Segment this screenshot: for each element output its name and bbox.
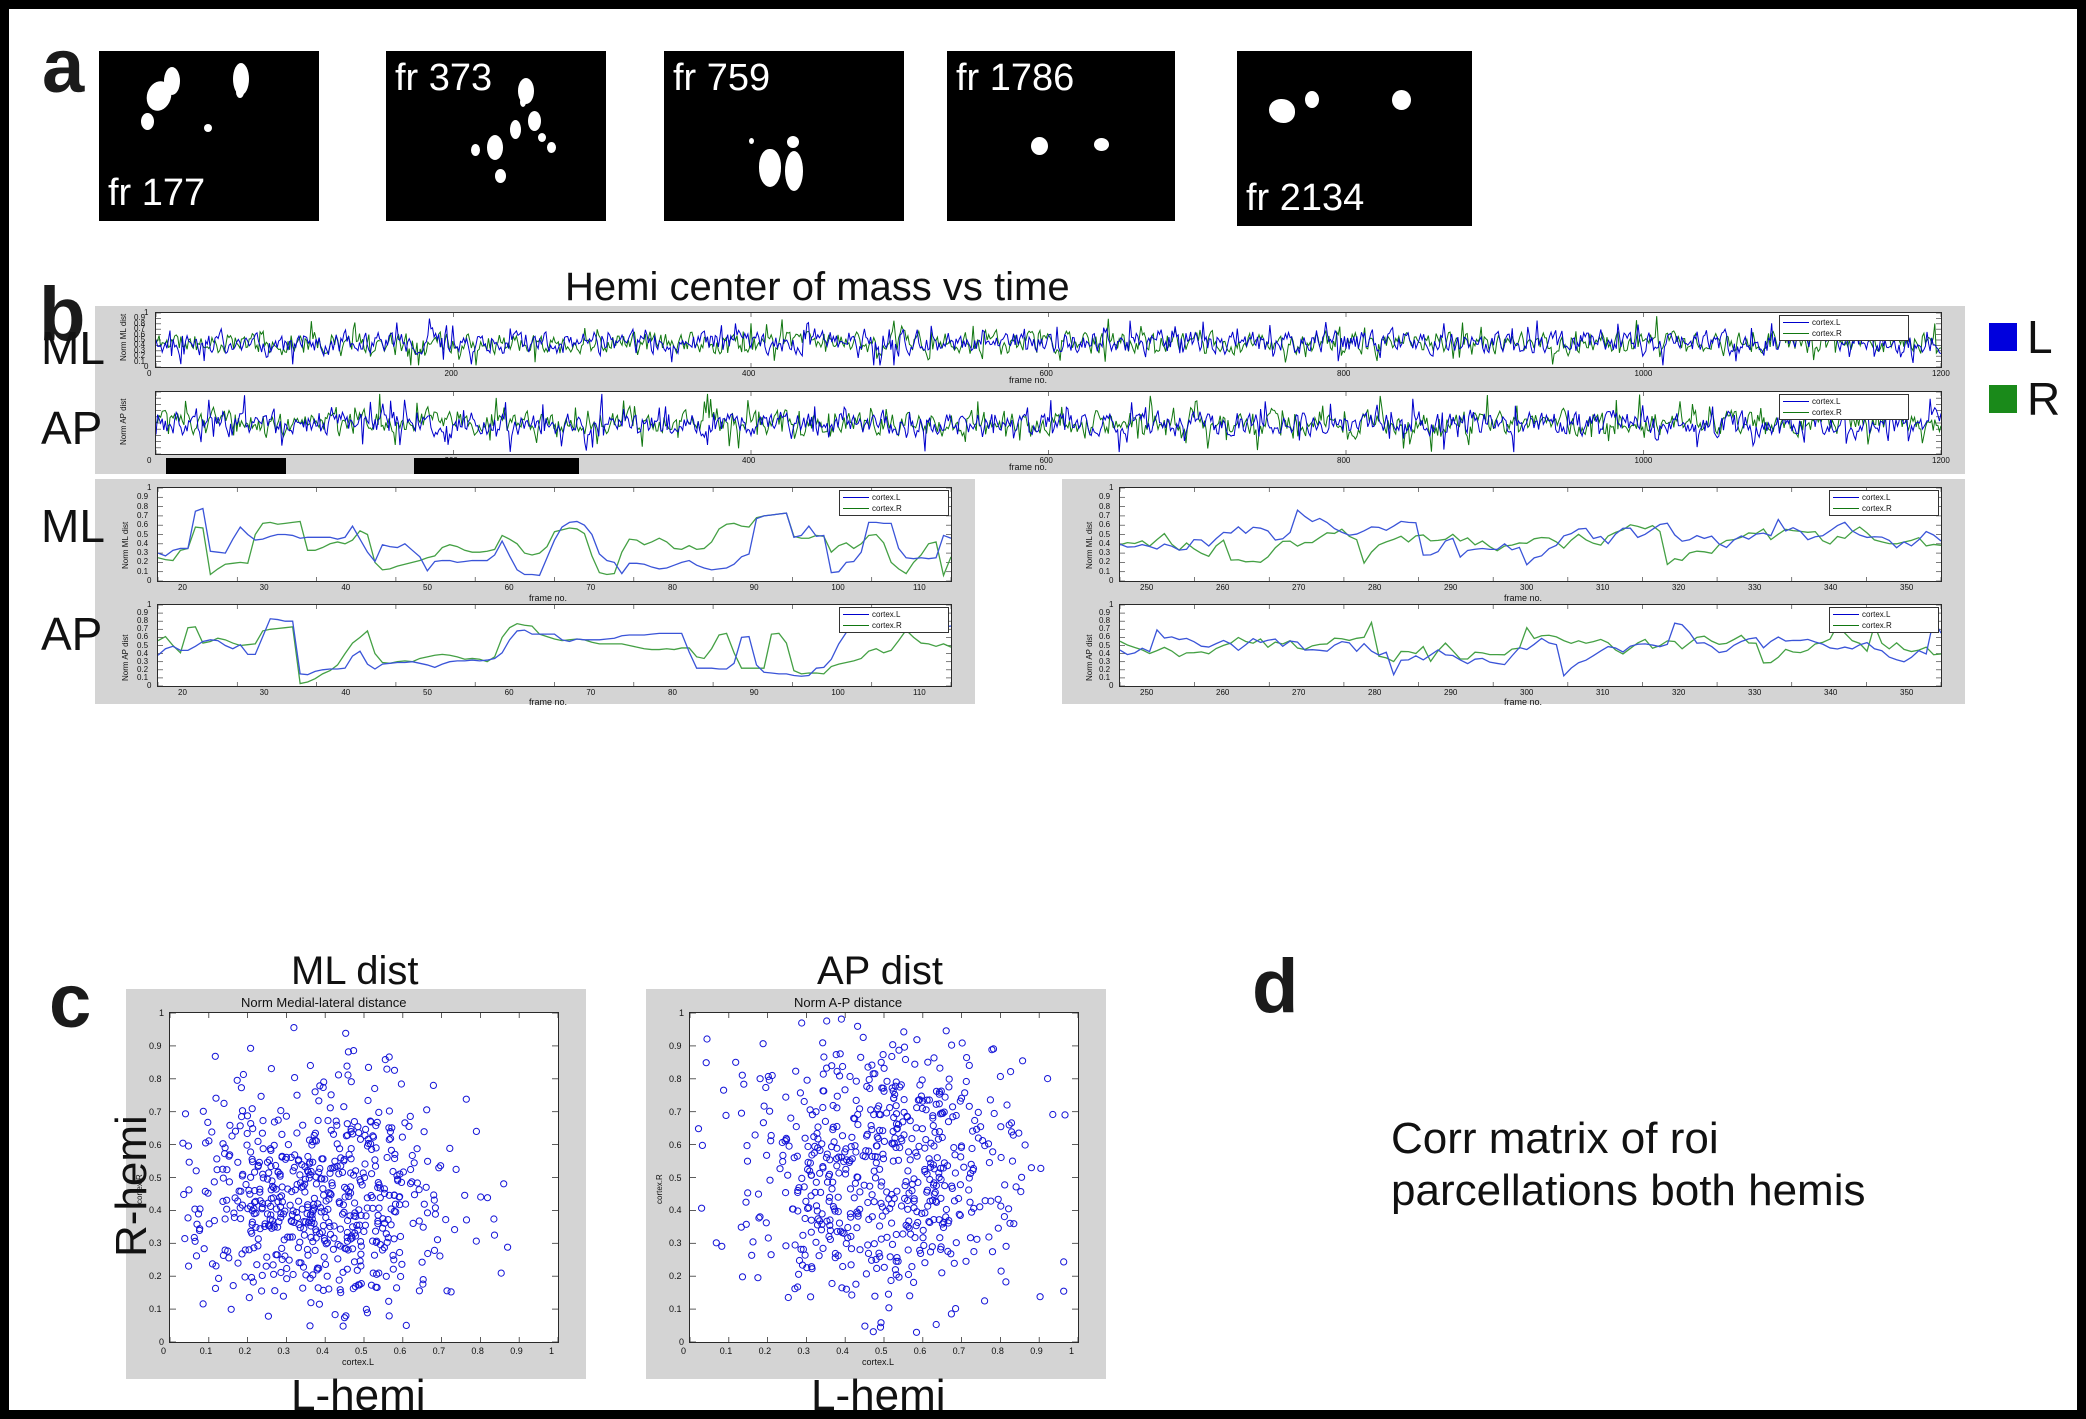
y-tick-label: 0.6 (1099, 520, 1110, 529)
overview-ap-plot (155, 391, 1942, 455)
scatter-ap-big-xlabel: L-hemi (811, 1371, 946, 1419)
x-tick-label: 0 (147, 369, 151, 378)
x-tick-label: 800 (1337, 456, 1350, 465)
x-tick-label: 50 (423, 583, 432, 592)
y-tick-label: 0.9 (1099, 608, 1110, 617)
legend-line-cortexR (1783, 412, 1809, 413)
zoom-right-ml-plot (1119, 487, 1942, 582)
y-tick-label: 0.3 (1099, 548, 1110, 557)
overview-ml-plot (155, 312, 1942, 368)
x-tick-label: 280 (1368, 583, 1381, 592)
x-tick-label: 60 (505, 688, 514, 697)
y-tick-label: 1 (147, 600, 151, 609)
scatter-ml-xlabel: cortex.L (342, 1357, 374, 1367)
y-tick-label: 0.8 (137, 502, 148, 511)
x-tick-label: 0.5 (355, 1346, 368, 1356)
overview-ml-svg (156, 313, 1941, 367)
panel-letter-c: c (49, 964, 91, 1040)
x-tick-label: 0 (681, 1346, 686, 1356)
scatter-ap-plot (689, 1012, 1079, 1343)
x-tick-label: 50 (423, 688, 432, 697)
scatter-ap-title: AP dist (817, 949, 943, 994)
legend-text-R: R (2027, 376, 2060, 422)
y-tick-label: 0 (1109, 681, 1113, 690)
legend-swatch-L (1989, 323, 2017, 351)
legend-label-cortexL: cortex.L (1812, 397, 1840, 406)
y-tick-label: 0 (147, 576, 151, 585)
y-tick-label: 0.4 (669, 1205, 682, 1215)
row-label-ap-zoom: AP (41, 607, 102, 661)
y-tick-label: 0.7 (137, 624, 148, 633)
legend-label-cortexL: cortex.L (872, 493, 900, 502)
zoom-right-ml-xlabel: frame no. (1504, 593, 1542, 603)
y-tick-label: 0.4 (1099, 649, 1110, 658)
overview-ml-legend: cortex.L cortex.R (1779, 315, 1909, 341)
x-tick-label: 0.3 (797, 1346, 810, 1356)
x-tick-label: 80 (668, 583, 677, 592)
row-label-ml-zoom: ML (41, 499, 105, 553)
scatter-ml-title: ML dist (291, 949, 418, 994)
x-tick-label: 270 (1292, 688, 1305, 697)
x-tick-label: 70 (586, 583, 595, 592)
x-tick-label: 310 (1596, 688, 1609, 697)
x-tick-label: 0 (147, 456, 151, 465)
x-tick-label: 290 (1444, 583, 1457, 592)
x-tick-label: 110 (913, 583, 926, 592)
y-tick-label: 0.8 (1099, 502, 1110, 511)
x-tick-label: 1000 (1635, 369, 1653, 378)
x-tick-label: 300 (1520, 583, 1533, 592)
scatter-ml-svg (170, 1013, 558, 1342)
y-tick-label: 0 (147, 681, 151, 690)
y-tick-label: 0.2 (1099, 557, 1110, 566)
legend-label-cortexL: cortex.L (1862, 610, 1890, 619)
x-tick-label: 340 (1824, 583, 1837, 592)
x-tick-label: 90 (750, 688, 759, 697)
zoom-right-ap-legend: cortex.L cortex.R (1829, 607, 1939, 633)
x-tick-label: 90 (750, 583, 759, 592)
lr-legend: L R (1989, 314, 2060, 422)
scatter-ap-svg (690, 1013, 1078, 1342)
overview-ap-svg (156, 392, 1941, 454)
x-tick-label: 70 (586, 688, 595, 697)
y-tick-label: 0.6 (137, 520, 148, 529)
x-tick-label: 350 (1900, 688, 1913, 697)
legend-line-cortexR (1833, 625, 1859, 626)
x-tick-label: 20 (178, 583, 187, 592)
zoom-left-ap-ylabel: Norm AP dist (121, 634, 130, 681)
x-tick-label: 200 (445, 369, 458, 378)
legend-line-cortexL (1833, 497, 1859, 498)
legend-label-cortexL: cortex.L (1862, 493, 1890, 502)
y-tick-label: 1 (159, 1008, 164, 1018)
scatter-ml-big-xlabel: L-hemi (291, 1371, 426, 1419)
y-tick-label: 0.1 (669, 1304, 682, 1314)
y-tick-label: 0.7 (1099, 511, 1110, 520)
y-tick-label: 0.3 (137, 548, 148, 557)
x-tick-label: 330 (1748, 583, 1761, 592)
row-label-ml-overview: ML (41, 321, 105, 375)
zoom-left-ap-svg (158, 605, 951, 686)
y-tick-label: 0.2 (1099, 665, 1110, 674)
zoom-right-ml-svg (1120, 488, 1941, 581)
x-tick-label: 1000 (1635, 456, 1653, 465)
x-tick-label: 1200 (1932, 456, 1950, 465)
y-tick-label: 0.1 (1099, 673, 1110, 682)
y-tick-label: 0.9 (137, 492, 148, 501)
frame-image-fr1786: fr 1786 (947, 51, 1175, 221)
x-tick-label: 1 (1069, 1346, 1074, 1356)
x-tick-label: 280 (1368, 688, 1381, 697)
x-tick-label: 330 (1748, 688, 1761, 697)
y-tick-label: 0.8 (1099, 616, 1110, 625)
frame-image-fr373: fr 373 (386, 51, 606, 221)
x-tick-label: 0.7 (953, 1346, 966, 1356)
x-tick-label: 0.7 (433, 1346, 446, 1356)
y-tick-label: 0.2 (669, 1271, 682, 1281)
x-tick-label: 290 (1444, 688, 1457, 697)
x-tick-label: 0.4 (316, 1346, 329, 1356)
x-tick-label: 320 (1672, 583, 1685, 592)
x-tick-label: 30 (260, 688, 269, 697)
legend-line-cortexL (843, 614, 869, 615)
overview-ml-xlabel: frame no. (1009, 375, 1047, 385)
zoom-right-ap-ylabel: Norm AP dist (1085, 634, 1094, 681)
y-tick-label: 0.5 (1099, 530, 1110, 539)
zoom-right-ap-plot (1119, 604, 1942, 687)
x-tick-label: 0.6 (394, 1346, 407, 1356)
legend-label-cortexR: cortex.R (1812, 329, 1842, 338)
x-tick-label: 0.2 (759, 1346, 772, 1356)
legend-line-cortexR (843, 508, 869, 509)
frame-label: fr 2134 (1246, 177, 1364, 220)
zoom-right-ap-xlabel: frame no. (1504, 697, 1542, 707)
zoom-right-ap-svg (1120, 605, 1941, 686)
y-tick-label: 0.9 (669, 1041, 682, 1051)
frame-label: fr 759 (673, 57, 770, 100)
zoom-right-ml-legend: cortex.L cortex.R (1829, 490, 1939, 516)
x-tick-label: 40 (341, 688, 350, 697)
legend-line-cortexL (1783, 322, 1809, 323)
legend-line-cortexR (1783, 333, 1809, 334)
y-tick-label: 0.1 (149, 1304, 162, 1314)
zoom-region-bar-left (166, 458, 286, 474)
x-tick-label: 260 (1216, 583, 1229, 592)
y-tick-label: 0.7 (1099, 624, 1110, 633)
x-tick-label: 0.8 (991, 1346, 1004, 1356)
x-tick-label: 100 (831, 583, 844, 592)
x-tick-label: 320 (1672, 688, 1685, 697)
legend-text-L: L (2027, 314, 2053, 360)
y-tick-label: 0.9 (1099, 492, 1110, 501)
x-tick-label: 0.5 (875, 1346, 888, 1356)
y-tick-label: 1 (144, 308, 148, 317)
figure-root: a fr 177 fr 373 fr 759 fr 1786 (0, 0, 2086, 1419)
y-tick-label: 0 (679, 1337, 684, 1347)
y-tick-label: 0.5 (137, 530, 148, 539)
zoom-right-ml-ylabel: Norm ML dist (1085, 522, 1094, 569)
x-tick-label: 20 (178, 688, 187, 697)
x-tick-label: 310 (1596, 583, 1609, 592)
legend-line-cortexL (1783, 401, 1809, 402)
y-tick-label: 1 (679, 1008, 684, 1018)
y-tick-label: 0.5 (1099, 641, 1110, 650)
panel-letter-a: a (42, 29, 84, 105)
y-tick-label: 0.3 (669, 1238, 682, 1248)
y-tick-label: 0.7 (669, 1107, 682, 1117)
y-tick-label: 0.6 (1099, 632, 1110, 641)
legend-line-cortexR (843, 625, 869, 626)
y-tick-label: 0.1 (1099, 567, 1110, 576)
y-tick-label: 1 (1109, 483, 1113, 492)
legend-label-cortexL: cortex.L (1812, 318, 1840, 327)
x-tick-label: 80 (668, 688, 677, 697)
x-tick-label: 110 (913, 688, 926, 697)
legend-label-cortexR: cortex.R (872, 504, 902, 513)
frame-label: fr 177 (108, 172, 205, 215)
x-tick-label: 400 (742, 369, 755, 378)
frame-image-fr759: fr 759 (664, 51, 904, 221)
y-tick-label: 0 (1109, 576, 1113, 585)
x-tick-label: 100 (831, 688, 844, 697)
x-tick-label: 260 (1216, 688, 1229, 697)
y-tick-label: 0.5 (669, 1173, 682, 1183)
scatter-ap-subtitle: Norm A-P distance (794, 995, 902, 1010)
overview-ap-ylabel: Norm AP dist (119, 398, 128, 445)
x-tick-label: 0.9 (1030, 1346, 1043, 1356)
scatter-ap-ylabel: cortex.R (655, 1174, 664, 1204)
x-tick-label: 340 (1824, 688, 1837, 697)
frame-image-fr2134: fr 2134 (1237, 51, 1472, 226)
y-tick-label: 0.1 (137, 673, 148, 682)
zoom-left-ap-xlabel: frame no. (529, 697, 567, 707)
x-tick-label: 0 (161, 1346, 166, 1356)
row-label-ap-overview: AP (41, 401, 102, 455)
lr-legend-item-L: L (1989, 314, 2060, 360)
zoom-region-bar-right (414, 458, 579, 474)
x-tick-label: 0.1 (720, 1346, 733, 1356)
y-tick-label: 0.2 (137, 557, 148, 566)
y-tick-label: 0.8 (149, 1074, 162, 1084)
zoom-left-ml-xlabel: frame no. (529, 593, 567, 603)
scatter-ml-plot (169, 1012, 559, 1343)
y-tick-label: 0.8 (669, 1074, 682, 1084)
x-tick-label: 1200 (1932, 369, 1950, 378)
legend-label-cortexR: cortex.R (1862, 504, 1892, 513)
legend-line-cortexR (1833, 508, 1859, 509)
x-tick-label: 0.3 (277, 1346, 290, 1356)
zoom-left-ml-ylabel: Norm ML dist (121, 522, 130, 569)
legend-swatch-R (1989, 385, 2017, 413)
x-tick-label: 300 (1520, 688, 1533, 697)
y-tick-label: 0.3 (1099, 657, 1110, 666)
x-tick-label: 400 (742, 456, 755, 465)
legend-label-cortexR: cortex.R (1812, 408, 1842, 417)
overview-ap-xlabel: frame no. (1009, 462, 1047, 472)
y-tick-label: 0.7 (137, 511, 148, 520)
panel-d-placeholder-line2: parcellations both hemis (1391, 1161, 1865, 1220)
frame-image-fr177: fr 177 (99, 51, 319, 221)
legend-line-cortexL (843, 497, 869, 498)
frame-label: fr 373 (395, 57, 492, 100)
y-tick-label: 0.3 (137, 657, 148, 666)
x-tick-label: 0.1 (200, 1346, 213, 1356)
x-tick-label: 0.4 (836, 1346, 849, 1356)
zoom-left-ml-plot (157, 487, 952, 582)
x-tick-label: 800 (1337, 369, 1350, 378)
zoom-left-ml-svg (158, 488, 951, 581)
scatter-ml-subtitle: Norm Medial-lateral distance (241, 995, 406, 1010)
overview-ap-legend: cortex.L cortex.R (1779, 394, 1909, 420)
y-tick-label: 0.5 (137, 641, 148, 650)
panel-letter-d: d (1252, 949, 1298, 1025)
x-tick-label: 1 (549, 1346, 554, 1356)
y-tick-label: 1 (1109, 600, 1113, 609)
x-tick-label: 350 (1900, 583, 1913, 592)
x-tick-label: 0.6 (914, 1346, 927, 1356)
y-tick-label: 0.6 (137, 632, 148, 641)
legend-label-cortexL: cortex.L (872, 610, 900, 619)
panel-b-title: Hemi center of mass vs time (565, 265, 1070, 310)
x-tick-label: 270 (1292, 583, 1305, 592)
scatter-ml-big-ylabel: R-hemi (107, 1115, 157, 1257)
x-tick-label: 0.2 (239, 1346, 252, 1356)
y-tick-label: 0.4 (137, 539, 148, 548)
y-tick-label: 0.6 (669, 1140, 682, 1150)
overview-ml-ylabel: Norm ML dist (119, 314, 128, 361)
y-tick-label: 0.2 (137, 665, 148, 674)
y-tick-label: 0.8 (137, 616, 148, 625)
legend-label-cortexR: cortex.R (1862, 621, 1892, 630)
y-tick-label: 0.2 (149, 1271, 162, 1281)
x-tick-label: 30 (260, 583, 269, 592)
x-tick-label: 40 (341, 583, 350, 592)
zoom-left-ap-plot (157, 604, 952, 687)
y-tick-label: 0.9 (149, 1041, 162, 1051)
legend-label-cortexR: cortex.R (872, 621, 902, 630)
legend-line-cortexL (1833, 614, 1859, 615)
panel-d-placeholder-line1: Corr matrix of roi (1391, 1109, 1719, 1168)
x-tick-label: 250 (1140, 688, 1153, 697)
x-tick-label: 250 (1140, 583, 1153, 592)
y-tick-label: 1 (147, 483, 151, 492)
x-tick-label: 60 (505, 583, 514, 592)
scatter-ap-xlabel: cortex.L (862, 1357, 894, 1367)
x-tick-label: 0.8 (471, 1346, 484, 1356)
y-tick-label: 0.4 (137, 649, 148, 658)
y-tick-label: 0.9 (137, 608, 148, 617)
x-tick-label: 0.9 (510, 1346, 523, 1356)
frame-label: fr 1786 (956, 57, 1074, 100)
zoom-left-ap-legend: cortex.L cortex.R (839, 607, 949, 633)
zoom-left-ml-legend: cortex.L cortex.R (839, 490, 949, 516)
lr-legend-item-R: R (1989, 376, 2060, 422)
y-tick-label: 0 (159, 1337, 164, 1347)
y-tick-label: 0.4 (1099, 539, 1110, 548)
y-tick-label: 0.1 (137, 567, 148, 576)
